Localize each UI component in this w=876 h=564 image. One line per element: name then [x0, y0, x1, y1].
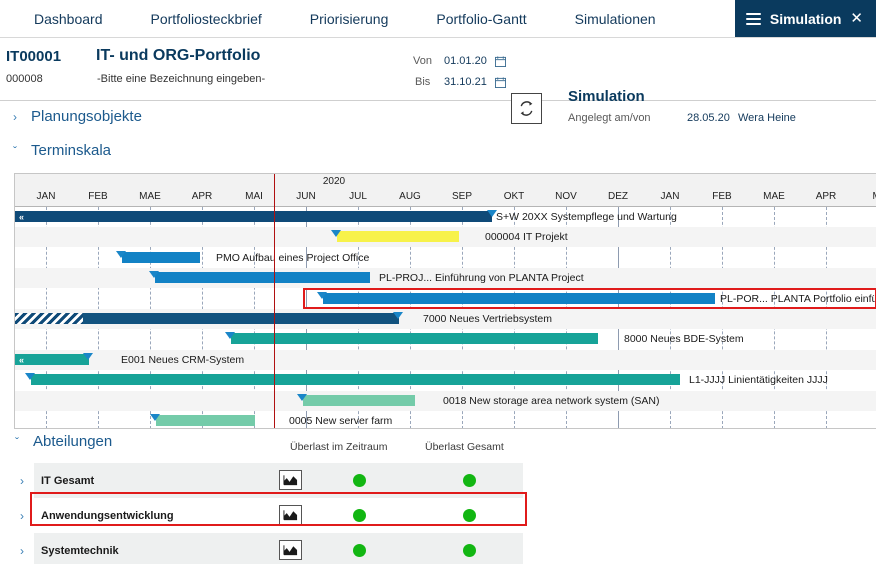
- top-navigation-bar: Dashboard Portfoliosteckbrief Priorisier…: [0, 0, 876, 38]
- gantt-bar[interactable]: [122, 252, 200, 263]
- department-name: Anwendungsentwicklung: [41, 510, 174, 522]
- bis-label: Bis: [415, 76, 430, 88]
- gantt-bar-label: PL-PROJ... Einführung von PLANTA Project: [379, 272, 584, 284]
- gantt-milestone-marker[interactable]: [331, 230, 341, 237]
- gantt-scroll-left-icon[interactable]: «: [19, 212, 24, 222]
- gantt-scroll-left-icon[interactable]: «: [19, 355, 24, 365]
- gantt-month-apr-15: APR: [800, 191, 852, 202]
- gantt-month-sep-8: SEP: [436, 191, 488, 202]
- page-title: IT- und ORG-Portfolio: [96, 47, 260, 65]
- tab-portfoliosteckbrief[interactable]: Portfoliosteckbrief: [127, 0, 286, 37]
- gantt-bar[interactable]: [303, 395, 415, 406]
- tab-portfolio-gantt[interactable]: Portfolio-Gantt: [412, 0, 550, 37]
- gantt-month-dez-11: DEZ: [592, 191, 644, 202]
- status-badge-overload-period: [353, 474, 366, 487]
- gantt-month-jul-6: JUL: [332, 191, 384, 202]
- table-row[interactable]: ›IT Gesamt: [34, 463, 523, 498]
- tab-dashboard[interactable]: Dashboard: [10, 0, 127, 37]
- section-planungsobjekte[interactable]: › Planungsobjekte: [10, 108, 142, 125]
- gantt-bar[interactable]: [15, 354, 89, 365]
- gantt-bar[interactable]: [156, 415, 255, 426]
- gantt-bar-label: 7000 Neues Vertriebsystem: [423, 313, 552, 325]
- gantt-milestone-marker[interactable]: [297, 394, 307, 401]
- gantt-bar-label: 000004 IT Projekt: [485, 231, 568, 243]
- von-value[interactable]: 01.01.20: [444, 55, 487, 67]
- chevron-right-icon[interactable]: ›: [20, 544, 24, 558]
- status-badge-overload-total: [463, 544, 476, 557]
- gantt-month-m.-16: M.: [852, 191, 876, 202]
- gantt-bar[interactable]: [83, 313, 399, 324]
- portfolio-id: IT00001: [6, 48, 61, 65]
- section-terminskala-label: Terminskala: [31, 142, 111, 159]
- status-badge-overload-total: [463, 474, 476, 487]
- tab-priorisierung[interactable]: Priorisierung: [286, 0, 413, 37]
- bar-chart-icon[interactable]: [279, 470, 302, 490]
- gantt-month-jun-5: JUN: [280, 191, 332, 202]
- gantt-bar-label: PMO Aufbau eines Project Office: [216, 252, 369, 264]
- gantt-month-apr-3: APR: [176, 191, 228, 202]
- bar-chart-icon[interactable]: [279, 540, 302, 560]
- calendar-icon-bis[interactable]: [495, 75, 506, 86]
- gantt-bar-label: 0018 New storage area network system (SA…: [443, 395, 660, 407]
- chevron-right-icon[interactable]: ›: [20, 509, 24, 523]
- gantt-year-label: 2020: [314, 176, 354, 187]
- status-badge-overload-period: [353, 509, 366, 522]
- gantt-bar[interactable]: [231, 333, 598, 344]
- table-row[interactable]: ›Systemtechnik: [34, 533, 523, 564]
- simulation-title: Simulation: [568, 88, 645, 105]
- gantt-bar-label: 8000 Neues BDE-System: [624, 333, 744, 345]
- departments-section: ˇ Abteilungen Überlast im Zeitraum Überl…: [0, 430, 876, 564]
- gantt-milestone-marker[interactable]: [317, 292, 327, 299]
- gantt-bar-label: E001 Neues CRM-System: [121, 354, 244, 366]
- today-marker-line: [274, 174, 275, 429]
- chevron-down-icon: ˇ: [12, 435, 22, 449]
- section-planungsobjekte-label: Planungsobjekte: [31, 108, 142, 125]
- tab-simulationen[interactable]: Simulationen: [551, 0, 680, 37]
- gantt-month-mae-14: MAE: [748, 191, 800, 202]
- gantt-bar[interactable]: [337, 231, 459, 242]
- gantt-month-nov-10: NOV: [540, 191, 592, 202]
- created-label: Angelegt am/von: [568, 112, 651, 124]
- gantt-timeline-header: 2020 JANFEBMAEAPRMAIJUNJULAUGSEPOKTNOVDE…: [15, 174, 876, 207]
- gantt-month-feb-1: FEB: [72, 191, 124, 202]
- von-label: Von: [413, 55, 432, 67]
- section-terminskala[interactable]: ˇ Terminskala: [10, 142, 111, 159]
- gantt-bar[interactable]: [323, 293, 715, 304]
- refresh-icon[interactable]: [511, 93, 542, 124]
- nav-tab-list: Dashboard Portfoliosteckbrief Priorisier…: [0, 0, 680, 37]
- section-abteilungen[interactable]: ˇ Abteilungen: [12, 433, 112, 450]
- chevron-right-icon[interactable]: ›: [20, 474, 24, 488]
- gantt-milestone-marker[interactable]: [225, 332, 235, 339]
- chevron-right-icon: ›: [10, 110, 20, 124]
- gantt-bar-label: 0005 New server farm: [289, 415, 392, 427]
- gantt-milestone-marker[interactable]: [393, 312, 403, 319]
- close-icon[interactable]: ✕: [850, 11, 863, 26]
- column-header-overload-total: Überlast Gesamt: [425, 441, 504, 453]
- gantt-bar-label: L1-JJJJ Linientätigkeiten JJJJ: [689, 374, 828, 386]
- created-user: Wera Heine: [738, 112, 796, 124]
- gantt-bar[interactable]: [155, 272, 370, 283]
- gantt-milestone-marker[interactable]: [25, 373, 35, 380]
- tab-simulation-active[interactable]: Simulation ✕: [735, 0, 876, 37]
- gantt-milestone-marker[interactable]: [150, 414, 160, 421]
- column-header-overload-period: Überlast im Zeitraum: [290, 441, 387, 453]
- portfolio-sub-id: 000008: [6, 73, 43, 85]
- gantt-month-aug-7: AUG: [384, 191, 436, 202]
- table-row[interactable]: ›Anwendungsentwicklung: [34, 498, 523, 533]
- gantt-row-background: [15, 411, 876, 429]
- status-badge-overload-total: [463, 509, 476, 522]
- department-name: IT Gesamt: [41, 475, 94, 487]
- department-name: Systemtechnik: [41, 545, 119, 557]
- gantt-bar[interactable]: [31, 374, 680, 385]
- section-abteilungen-label: Abteilungen: [33, 433, 112, 450]
- gantt-rows-area: «S+W 20XX Systempflege und Wartung000004…: [15, 207, 876, 429]
- gantt-chart[interactable]: 2020 JANFEBMAEAPRMAIJUNJULAUGSEPOKTNOVDE…: [14, 173, 876, 429]
- gantt-month-okt-9: OKT: [488, 191, 540, 202]
- tab-simulation-label: Simulation: [770, 11, 842, 27]
- gantt-bar-label: S+W 20XX Systempflege und Wartung: [496, 211, 677, 223]
- gantt-month-feb-13: FEB: [696, 191, 748, 202]
- bis-value[interactable]: 31.10.21: [444, 76, 487, 88]
- gantt-bar-label: PL-POR... PLANTA Portfolio einführen: [720, 293, 876, 305]
- gantt-bar[interactable]: [15, 211, 492, 222]
- chevron-down-icon: ˇ: [10, 144, 20, 158]
- calendar-icon-von[interactable]: [495, 54, 506, 65]
- hamburger-menu-icon[interactable]: [746, 10, 761, 28]
- gantt-milestone-marker[interactable]: [83, 353, 93, 360]
- gantt-month-mai-4: MAI: [228, 191, 280, 202]
- created-date: 28.05.20: [687, 112, 730, 124]
- status-badge-overload-period: [353, 544, 366, 557]
- portfolio-header: IT00001 000008 IT- und ORG-Portfolio -Bi…: [0, 38, 876, 101]
- gantt-milestone-marker[interactable]: [149, 271, 159, 278]
- gantt-month-jan-0: JAN: [20, 191, 72, 202]
- gantt-month-jan-12: JAN: [644, 191, 696, 202]
- portfolio-description: -Bitte eine Bezeichnung eingeben-: [97, 73, 265, 85]
- bar-chart-icon[interactable]: [279, 505, 302, 525]
- gantt-bar-hatched: [15, 313, 83, 324]
- gantt-milestone-marker[interactable]: [116, 251, 126, 258]
- gantt-month-mae-2: MAE: [124, 191, 176, 202]
